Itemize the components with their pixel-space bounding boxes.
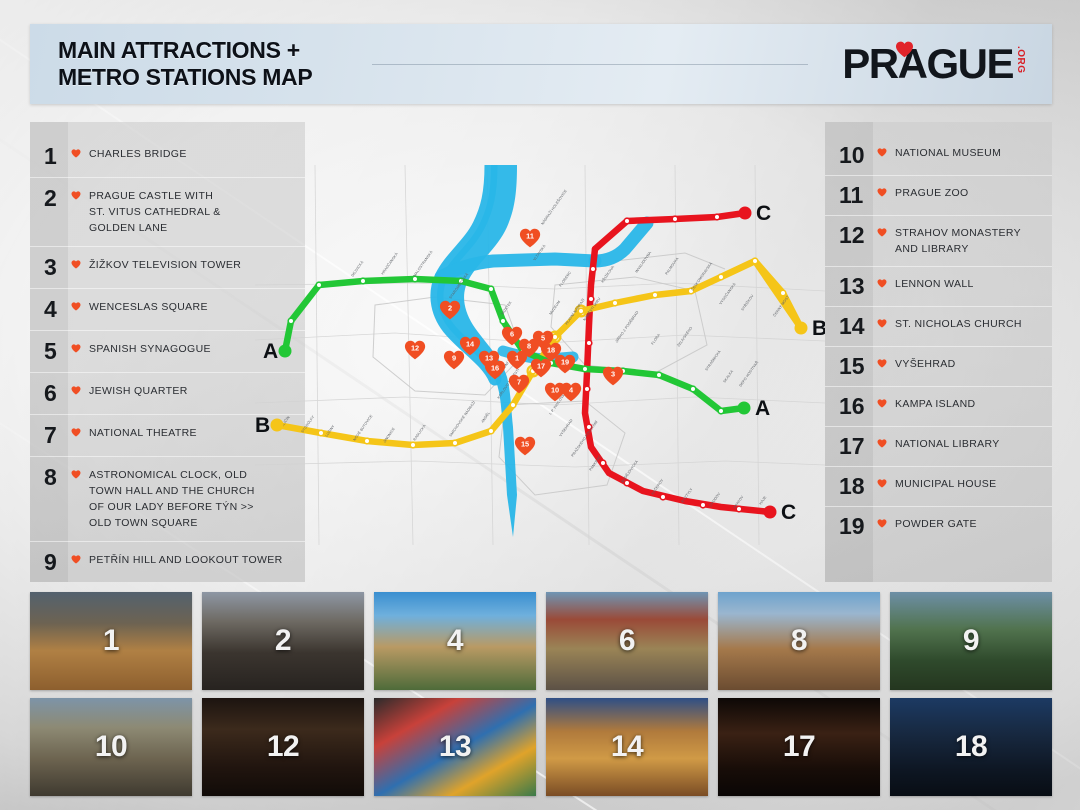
- station-label: FLORENC: [559, 270, 573, 287]
- logo-org-suffix: .ORG: [1015, 43, 1026, 74]
- photo-thumbnail-2[interactable]: 2: [202, 592, 364, 690]
- legend-item-14[interactable]: 14ST. NICHOLAS CHURCH: [825, 306, 1052, 346]
- photo-number: 6: [546, 624, 708, 658]
- station-label: BUDĚJOVICKÁ: [620, 459, 640, 484]
- legend-heart-icon: [877, 399, 887, 408]
- legend-item-label: JEWISH QUARTER: [89, 382, 188, 400]
- station-label: MUZEUM: [549, 300, 562, 316]
- map-districts: [373, 253, 725, 495]
- legend-item-label: KAMPA ISLAND: [895, 395, 975, 413]
- station-label: STŘÍŽKOV: [740, 293, 755, 312]
- photo-thumbnail-14[interactable]: 14: [546, 698, 708, 796]
- legend-panel-right: 10NATIONAL MUSEUM11PRAGUE ZOO12STRAHOV M…: [825, 122, 1052, 582]
- legend-item-number: 8: [44, 466, 69, 489]
- legend-item-17[interactable]: 17NATIONAL LIBRARY: [825, 426, 1052, 466]
- terminal-letter-A: A: [263, 340, 278, 363]
- legend-heart-icon: [877, 228, 887, 237]
- legend-heart-icon: [877, 359, 887, 368]
- station-label: DEJVICKÁ: [351, 260, 365, 278]
- legend-heart-icon: [877, 148, 887, 157]
- terminal-letter-C: C: [781, 501, 796, 524]
- legend-item-label: POWDER GATE: [895, 515, 977, 533]
- station-label: NÁDRAŽÍ HOLEŠOVICE: [540, 188, 568, 226]
- terminal-letter-C: C: [756, 202, 771, 225]
- terminal-dot-B: [271, 419, 284, 432]
- station-label: FLORA: [651, 333, 662, 346]
- marker-number: 6: [510, 330, 514, 339]
- legend-item-label: CHARLES BRIDGE: [89, 145, 187, 163]
- legend-item-label: VYŠEHRAD: [895, 355, 956, 373]
- attraction-marker-11[interactable]: 11: [520, 229, 540, 248]
- station-label: ŽELIVSKÉHO: [676, 325, 694, 347]
- photo-number: 2: [202, 624, 364, 658]
- legend-heart-icon: [71, 260, 81, 269]
- legend-heart-icon: [71, 428, 81, 437]
- attraction-marker-9[interactable]: 9: [444, 351, 464, 370]
- station-label: RADLICKÁ: [413, 423, 427, 441]
- legend-list-right: 10NATIONAL MUSEUM11PRAGUE ZOO12STRAHOV M…: [825, 136, 1052, 546]
- legend-heart-icon: [71, 149, 81, 158]
- logo-heart-icon: [895, 41, 914, 58]
- legend-item-number: 7: [44, 424, 69, 447]
- station-label: VYŠEHRAD: [558, 418, 574, 438]
- attraction-marker-12[interactable]: 12: [405, 341, 425, 360]
- legend-heart-icon: [877, 479, 887, 488]
- legend-item-label: ASTRONOMICAL CLOCK, OLD TOWN HALL AND TH…: [89, 466, 255, 532]
- station-label: DEPO HOSTIVAŘ: [738, 359, 760, 387]
- legend-item-number: 13: [839, 275, 875, 298]
- marker-number: 1: [515, 354, 519, 363]
- legend-item-label: SPANISH SYNAGOGUE: [89, 340, 211, 358]
- legend-item-number: 17: [839, 435, 875, 458]
- terminal-dot-A: [738, 402, 751, 415]
- legend-heart-icon: [71, 470, 81, 479]
- legend-item-16[interactable]: 16KAMPA ISLAND: [825, 386, 1052, 426]
- legend-item-label: WENCESLAS SQUARE: [89, 298, 208, 316]
- legend-item-13[interactable]: 13LENNON WALL: [825, 266, 1052, 306]
- marker-number: 19: [561, 358, 569, 367]
- photo-number: 10: [30, 730, 192, 764]
- marker-number: 18: [547, 346, 555, 355]
- terminal-dot-A: [279, 345, 292, 358]
- legend-item-number: 10: [839, 144, 875, 167]
- legend-item-number: 18: [839, 475, 875, 498]
- marker-number: 9: [452, 354, 456, 363]
- legend-heart-icon: [71, 191, 81, 200]
- legend-heart-icon: [71, 386, 81, 395]
- station-label: ANDĚL: [480, 410, 491, 423]
- photo-number: 9: [890, 624, 1052, 658]
- station-label: MALOSTRANSKÁ: [413, 250, 434, 278]
- legend-item-number: 12: [839, 224, 875, 247]
- legend-item-number: 14: [839, 315, 875, 338]
- attraction-marker-15[interactable]: 15: [515, 437, 535, 456]
- terminal-letter-B: B: [255, 414, 270, 437]
- header-band: MAIN ATTRACTIONS + METRO STATIONS MAP PR…: [30, 24, 1052, 104]
- header-divider: [372, 64, 808, 65]
- photo-thumbnail-1[interactable]: 1: [30, 592, 192, 690]
- photo-number: 12: [202, 730, 364, 764]
- legend-item-label: NATIONAL LIBRARY: [895, 435, 1000, 453]
- photo-number: 17: [718, 730, 880, 764]
- logo-wordmark: PRAGUE: [842, 43, 1013, 85]
- photo-thumbnail-18[interactable]: 18: [890, 698, 1052, 796]
- photo-number: 1: [30, 624, 192, 658]
- station-label: SMÍCHOVSKÉ NÁDRAŽÍ: [448, 400, 476, 438]
- photo-thumbnail-9[interactable]: 9: [890, 592, 1052, 690]
- marker-number: 15: [521, 440, 529, 449]
- legend-item-10[interactable]: 10NATIONAL MUSEUM: [825, 136, 1052, 175]
- marker-number: 16: [491, 364, 499, 373]
- marker-number: 7: [517, 378, 521, 387]
- marker-number: 2: [448, 304, 452, 313]
- marker-number: 5: [541, 334, 545, 343]
- prague-org-logo[interactable]: PRAGUE .ORG: [842, 43, 1026, 85]
- metro-attractions-map[interactable]: DEJVICKÁHRADČANSKÁMALOSTRANSKÁSTAROMĚSTS…: [255, 130, 825, 580]
- legend-heart-icon: [877, 188, 887, 197]
- legend-item-number: 19: [839, 515, 875, 538]
- map-svg: DEJVICKÁHRADČANSKÁMALOSTRANSKÁSTAROMĚSTS…: [255, 130, 825, 580]
- marker-number: 10: [551, 386, 559, 395]
- legend-item-label: MUNICIPAL HOUSE: [895, 475, 997, 493]
- photo-thumbnail-10[interactable]: 10: [30, 698, 192, 796]
- legend-heart-icon: [71, 555, 81, 564]
- marker-number: 14: [466, 340, 475, 349]
- station-label: VYSOČANSKÁ: [718, 281, 737, 305]
- station-label: INVALIDOVNA: [635, 250, 653, 273]
- photo-gallery: 124689101213141718: [30, 592, 1052, 796]
- legend-item-label: PRAGUE ZOO: [895, 184, 969, 202]
- infographic-page: MAIN ATTRACTIONS + METRO STATIONS MAP PR…: [0, 0, 1080, 810]
- legend-heart-icon: [71, 344, 81, 353]
- terminal-dot-B: [795, 322, 808, 335]
- attraction-marker-7[interactable]: 7: [509, 375, 529, 394]
- legend-item-number: 11: [839, 184, 875, 207]
- terminal-letter-B: B: [812, 317, 825, 340]
- legend-item-18[interactable]: 18MUNICIPAL HOUSE: [825, 466, 1052, 506]
- marker-number: 8: [527, 342, 531, 351]
- legend-item-label: STRAHOV MONASTERY AND LIBRARY: [895, 224, 1021, 258]
- photo-thumbnail-13[interactable]: 13: [374, 698, 536, 796]
- legend-item-number: 1: [44, 145, 69, 168]
- station-label: HRADČANSKÁ: [380, 251, 399, 276]
- legend-heart-icon: [877, 319, 887, 328]
- station-label: STRAŠNICKÁ: [704, 349, 722, 372]
- station-label: MŮSTEK: [500, 300, 513, 316]
- legend-heart-icon: [877, 279, 887, 288]
- legend-item-number: 6: [44, 382, 69, 405]
- legend-heart-icon: [877, 519, 887, 528]
- marker-number: 3: [611, 370, 615, 379]
- legend-item-number: 3: [44, 256, 69, 279]
- legend-heart-icon: [71, 302, 81, 311]
- station-label: SKALKA: [723, 369, 735, 384]
- marker-number: 12: [411, 344, 419, 353]
- photo-number: 4: [374, 624, 536, 658]
- legend-item-number: 9: [44, 551, 69, 574]
- legend-item-label: ST. NICHOLAS CHURCH: [895, 315, 1022, 333]
- terminal-dot-C: [764, 506, 777, 519]
- photo-thumbnail-8[interactable]: 8: [718, 592, 880, 690]
- photo-thumbnail-17[interactable]: 17: [718, 698, 880, 796]
- legend-heart-icon: [877, 439, 887, 448]
- attraction-marker-3[interactable]: 3: [603, 367, 623, 386]
- photo-number: 13: [374, 730, 536, 764]
- legend-item-11[interactable]: 11PRAGUE ZOO: [825, 175, 1052, 215]
- photo-thumbnail-6[interactable]: 6: [546, 592, 708, 690]
- station-label: PALMOVKA: [665, 256, 680, 275]
- attraction-marker-1[interactable]: 1: [507, 351, 527, 370]
- legend-item-label: ŽIŽKOV TELEVISION TOWER: [89, 256, 241, 274]
- photo-thumbnail-12[interactable]: 12: [202, 698, 364, 796]
- photo-number: 14: [546, 730, 708, 764]
- legend-item-12[interactable]: 12STRAHOV MONASTERY AND LIBRARY: [825, 215, 1052, 266]
- terminal-letter-A: A: [755, 397, 770, 420]
- photo-number: 8: [718, 624, 880, 658]
- photo-thumbnail-4[interactable]: 4: [374, 592, 536, 690]
- legend-item-number: 2: [44, 187, 69, 210]
- legend-item-label: NATIONAL MUSEUM: [895, 144, 1001, 162]
- legend-item-15[interactable]: 15VYŠEHRAD: [825, 346, 1052, 386]
- station-label: HÁJE: [759, 495, 768, 506]
- legend-item-label: NATIONAL THEATRE: [89, 424, 197, 442]
- metro-line-a: [285, 276, 744, 414]
- marker-number: 11: [526, 232, 534, 241]
- terminal-dot-C: [739, 207, 752, 220]
- legend-item-label: PRAGUE CASTLE WITH ST. VITUS CATHEDRAL &…: [89, 187, 221, 237]
- marker-number: 17: [537, 362, 545, 371]
- legend-item-label: LENNON WALL: [895, 275, 974, 293]
- legend-item-number: 4: [44, 298, 69, 321]
- legend-item-number: 16: [839, 395, 875, 418]
- legend-item-number: 5: [44, 340, 69, 363]
- legend-item-19[interactable]: 19POWDER GATE: [825, 506, 1052, 546]
- photo-number: 18: [890, 730, 1052, 764]
- legend-item-number: 15: [839, 355, 875, 378]
- legend-item-label: PETŘÍN HILL AND LOOKOUT TOWER: [89, 551, 283, 569]
- page-title: MAIN ATTRACTIONS + METRO STATIONS MAP: [58, 37, 312, 90]
- attraction-marker-19[interactable]: 19: [555, 355, 575, 374]
